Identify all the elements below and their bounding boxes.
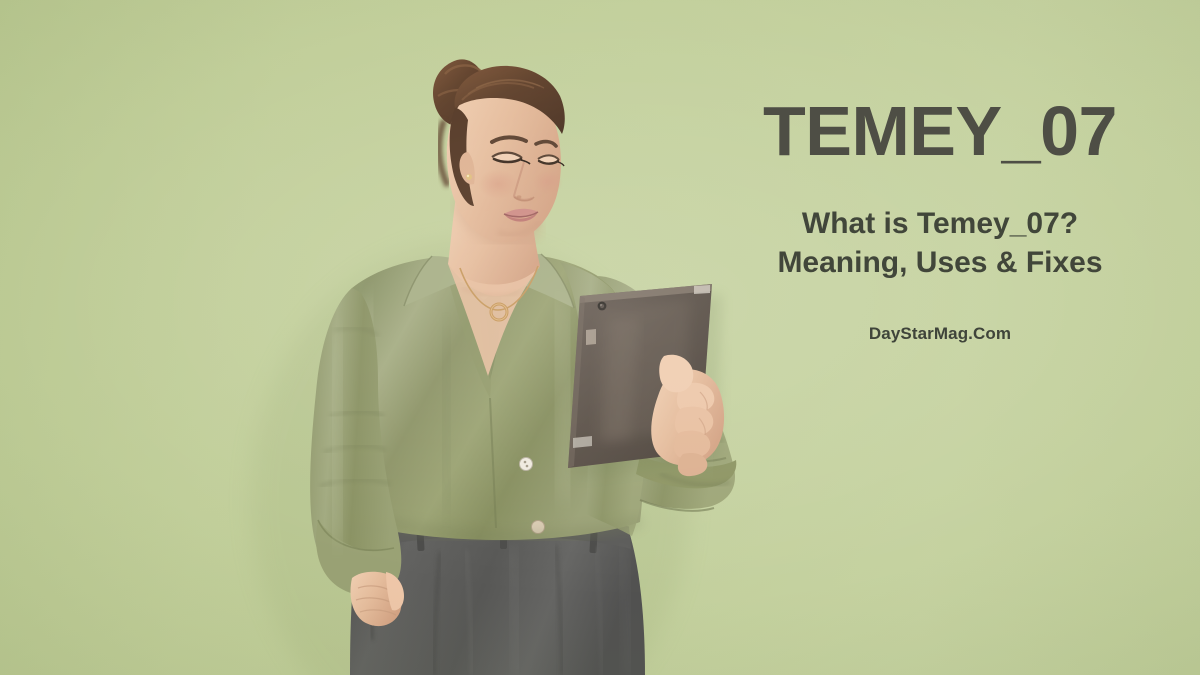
head (433, 59, 565, 242)
earring (466, 174, 472, 180)
banner-canvas: TEMEY_07 What is Temey_07? Meaning, Uses… (0, 0, 1200, 675)
site-attribution: DayStarMag.Com (700, 324, 1180, 344)
page-title: TEMEY_07 (700, 96, 1180, 166)
subtitle-line-2: Meaning, Uses & Fixes (700, 243, 1180, 282)
text-panel: TEMEY_07 What is Temey_07? Meaning, Uses… (700, 96, 1180, 344)
subtitle: What is Temey_07? Meaning, Uses & Fixes (700, 204, 1180, 282)
subtitle-line-1: What is Temey_07? (700, 204, 1180, 243)
